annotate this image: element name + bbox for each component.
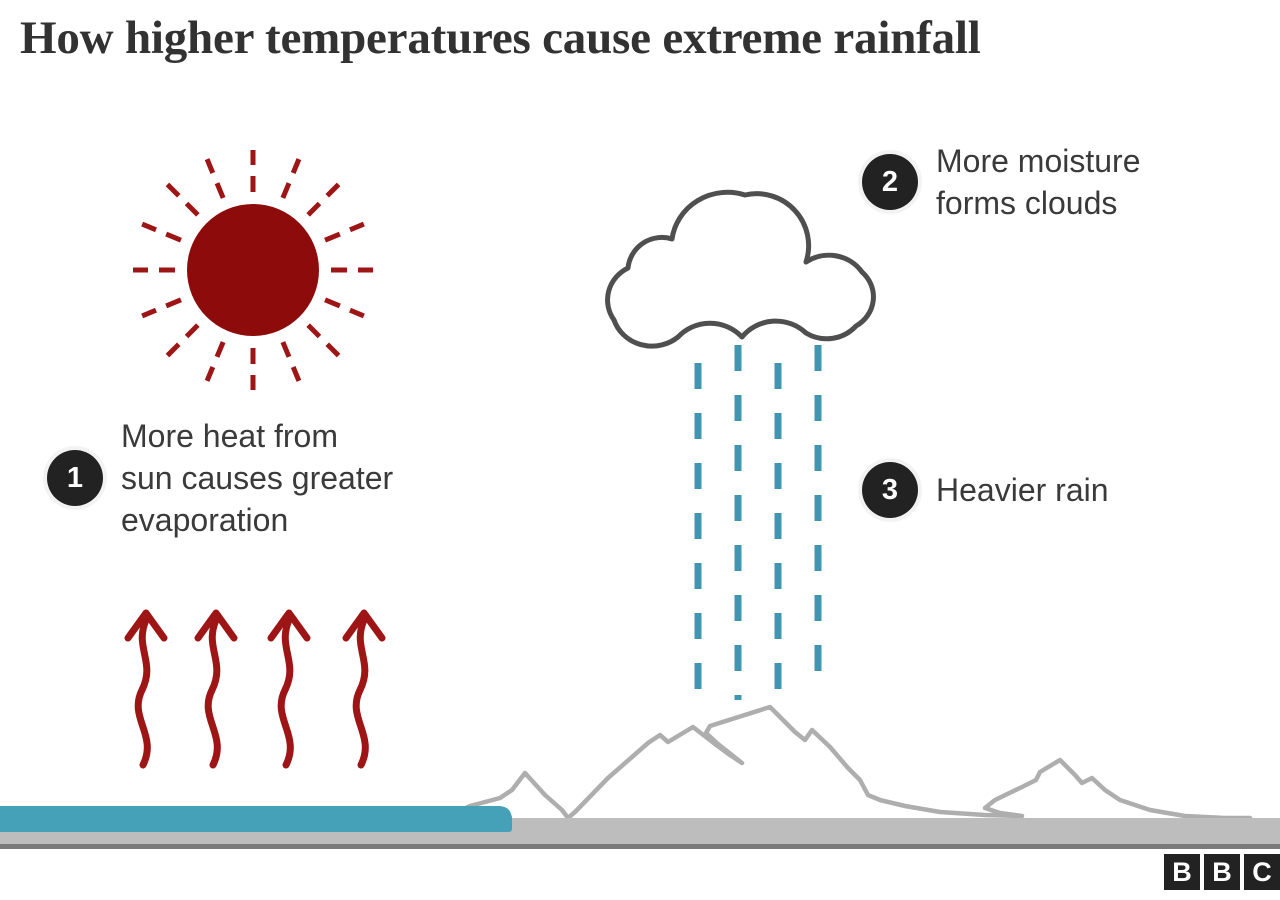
step-badge-3: 3 [862, 462, 918, 518]
bbc-logo-letter-3: C [1244, 854, 1280, 890]
cloud-shape [608, 192, 874, 346]
evaporation-arrow [271, 613, 307, 765]
evaporation-arrow [346, 613, 382, 765]
step-label-3: Heavier rain [936, 469, 1109, 511]
step-label-2: More moisture forms clouds [936, 140, 1141, 224]
step-callout-3: 3 Heavier rain [862, 462, 1222, 518]
step-callout-2: 2 More moisture forms clouds [862, 140, 1262, 224]
mountain-range [443, 707, 1250, 818]
evaporation-arrow [198, 613, 234, 765]
bbc-logo: B B C [1164, 854, 1280, 890]
sun-disc-icon [187, 204, 319, 336]
sea-water-body [0, 806, 500, 829]
step-label-1: More heat from sun causes greater evapor… [121, 415, 393, 542]
step-badge-1: 1 [47, 450, 103, 506]
ground-edge-line [0, 844, 1280, 849]
bbc-logo-letter-2: B [1204, 854, 1240, 890]
step-badge-2: 2 [862, 154, 918, 210]
bbc-logo-letter-1: B [1164, 854, 1200, 890]
rain-dashes-icon [698, 345, 818, 712]
infographic-root: How higher temperatures cause extreme ra… [0, 0, 1280, 900]
step-callout-1: 1 More heat from sun causes greater evap… [47, 415, 507, 542]
sun-icon [133, 150, 373, 390]
evaporation-arrows-icon [128, 613, 382, 765]
sea-water-cap [455, 806, 512, 829]
evaporation-arrow [128, 613, 164, 765]
cloud-icon [608, 192, 874, 346]
